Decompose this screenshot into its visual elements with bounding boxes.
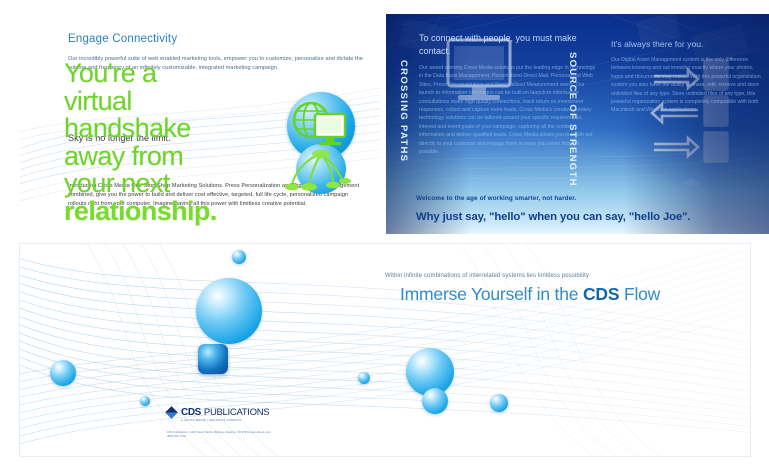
flow-headline-brand: CDS (583, 284, 619, 304)
blue-body-right: Our Digital Asset Management system is t… (611, 56, 761, 115)
blue-tagline: Welcome to the age of working smarter, n… (416, 195, 576, 202)
blue-callout: Why just say, "hello" when you can say, … (416, 211, 690, 223)
monitor-icon (315, 114, 345, 145)
flow-headline: Immerse Yourself in the CDS Flow (400, 284, 660, 305)
panel-crossing-paths: CROSSING PATHS SOURCE OF STRENGTH To con… (386, 14, 769, 234)
flow-headline-suffix: Flow (619, 284, 660, 304)
blue-heading-right: It's always there for you. (611, 39, 761, 49)
flow-kicker: Within infinite combinations of interrel… (385, 273, 589, 279)
page-title: Engage Connectivity (68, 33, 177, 45)
logo-brand-bold: CDS (181, 407, 201, 418)
logo-brand-light: PUBLICATIONS (204, 407, 269, 418)
emblem-artwork (278, 92, 364, 200)
overlay-line-5: your next (64, 170, 217, 198)
overlay-line-2: virtual (64, 88, 217, 116)
network-links-icon (292, 154, 342, 184)
diamond-logo-icon (165, 406, 178, 419)
network-nodes-icon (285, 150, 351, 191)
logo-tagline: A CROSS MEDIA / GRAPHICS COMPANY (181, 419, 275, 422)
sphere-tiny-b (358, 372, 370, 384)
logo-wordmark-row: CDS PUBLICATIONS (167, 407, 275, 418)
blue-heading-left: To connect with people, you must make co… (419, 32, 599, 58)
panel-engage-connectivity: Engage Connectivity Our incredibly power… (20, 14, 380, 234)
sphere-large-center (196, 278, 262, 344)
sphere-tiny-c (140, 396, 150, 406)
brochure-canvas: Engage Connectivity Our incredibly power… (0, 0, 769, 470)
vertical-label-crossing-paths: CROSSING PATHS (398, 60, 409, 162)
blue-body-left: Our award winning Cross Media solutions … (419, 64, 597, 156)
overlay-line-4: away from (64, 143, 217, 171)
sphere-small-left (50, 360, 76, 386)
sphere-small-right (422, 388, 448, 414)
overlay-line-3: handshake (64, 115, 217, 143)
sphere-medium-upper (232, 250, 246, 264)
overlay-line-6: relationship. (64, 196, 217, 226)
cds-publications-logo: CDS PUBLICATIONS A CROSS MEDIA / GRAPHIC… (167, 407, 275, 441)
rounded-square-globe-icon (198, 344, 228, 374)
logo-address: CDS Publications | 2361 South Pacific Hi… (167, 431, 275, 439)
overlay-line-1: You're a (64, 60, 217, 88)
flow-headline-prefix: Immerse Yourself in the (400, 284, 583, 304)
overlay-headline: You're a virtual handshake away from you… (64, 60, 217, 225)
globe-computer-emblem (278, 92, 364, 200)
sphere-tiny-a (490, 394, 508, 412)
